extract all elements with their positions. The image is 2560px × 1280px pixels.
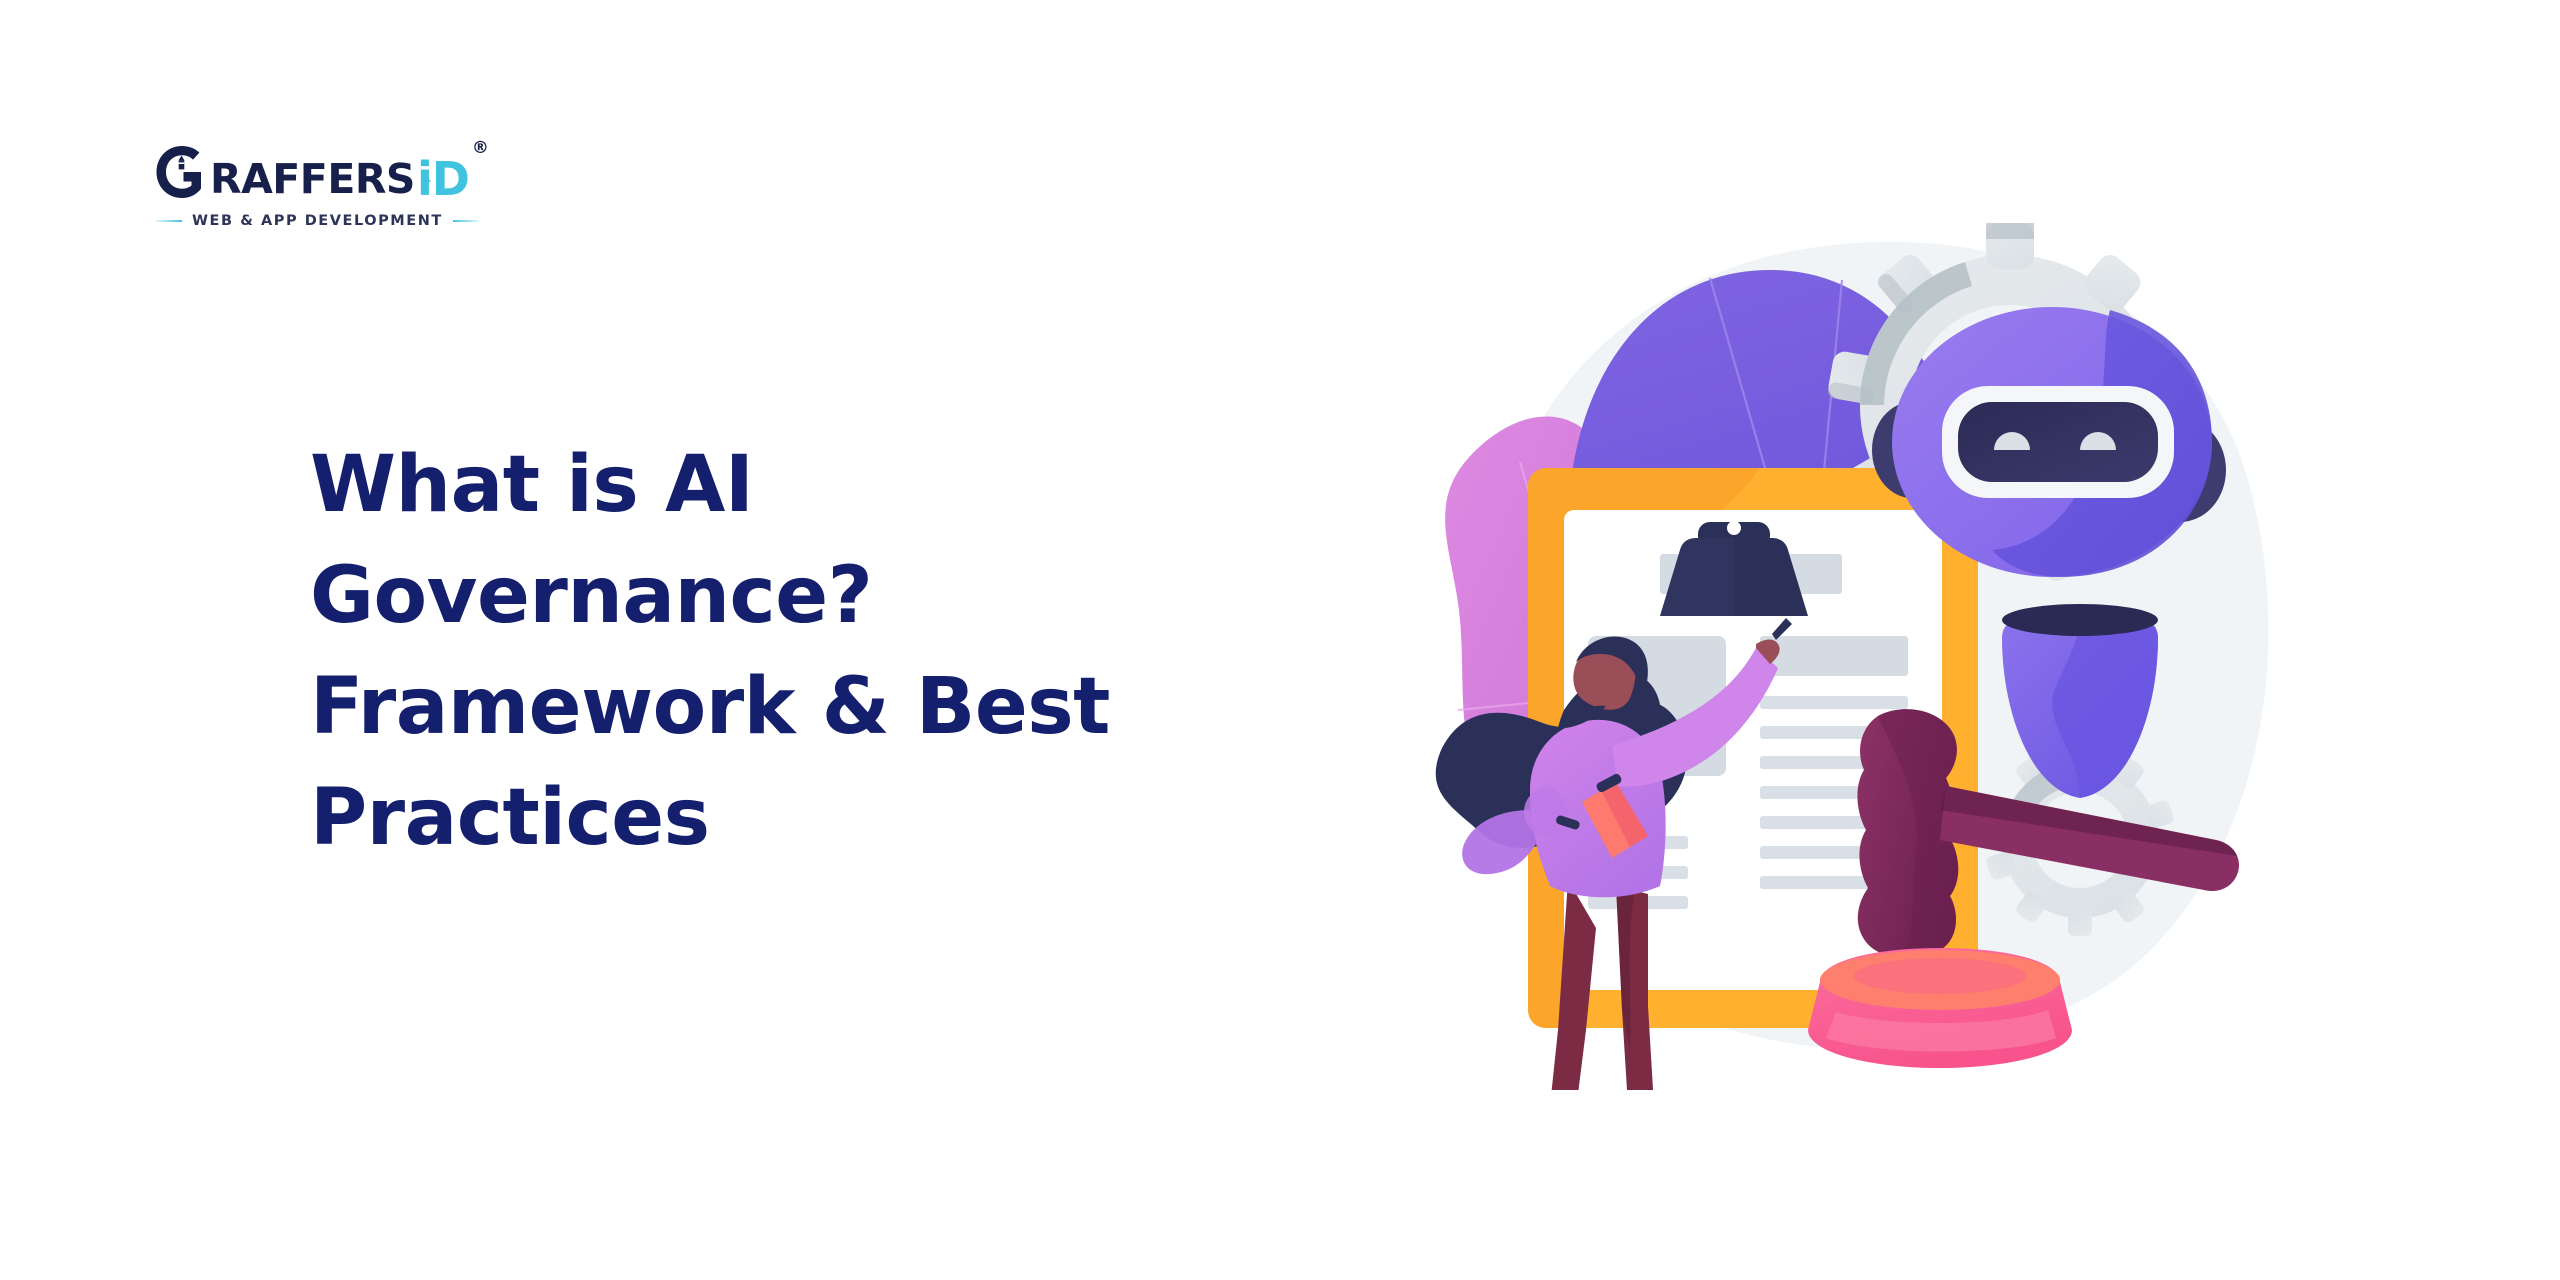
logo-wordmark-rest: RAFFERS bbox=[210, 159, 415, 202]
tagline-dash-left-icon bbox=[156, 220, 182, 222]
logo-tagline: WEB & APP DEVELOPMENT bbox=[192, 213, 443, 229]
page-title: What is AI Governance? Framework & Best … bbox=[310, 430, 1210, 873]
logo-tagline-row: WEB & APP DEVELOPMENT bbox=[156, 213, 456, 229]
logo-wordmark: RAFFERS iD ® bbox=[152, 140, 482, 202]
registered-trademark-icon: ® bbox=[472, 138, 489, 158]
graffers-g-mark-icon bbox=[152, 142, 212, 202]
logo-i-pencil-icon bbox=[420, 152, 432, 168]
tagline-dash-right-icon bbox=[453, 220, 479, 222]
ai-governance-illustration bbox=[1380, 150, 2300, 1090]
robot-visor bbox=[1958, 402, 2158, 482]
page-root: RAFFERS iD ® WEB & APP DEVELOPMENT What … bbox=[0, 0, 2560, 1280]
logo-wordmark-id: iD bbox=[417, 156, 469, 202]
gavel-block bbox=[1808, 948, 2072, 1068]
site-logo[interactable]: RAFFERS iD ® WEB & APP DEVELOPMENT bbox=[152, 140, 482, 229]
